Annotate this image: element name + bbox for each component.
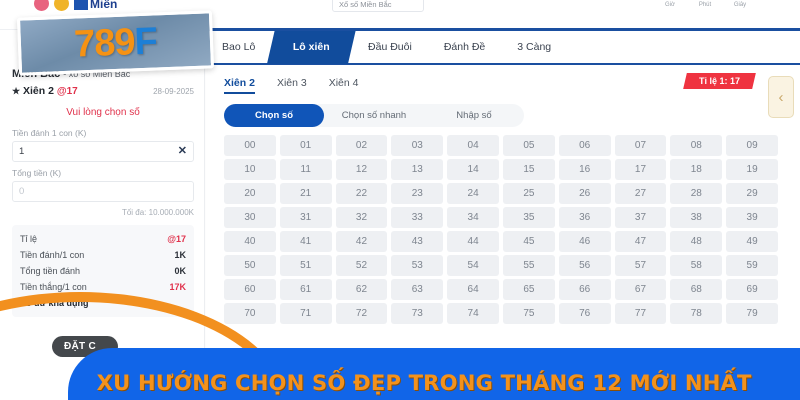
number-cell[interactable]: 06: [559, 135, 611, 156]
number-cell[interactable]: 40: [224, 231, 276, 252]
number-cell[interactable]: 74: [447, 303, 499, 324]
number-cell[interactable]: 00: [224, 135, 276, 156]
number-cell[interactable]: 25: [503, 183, 555, 204]
number-cell[interactable]: 24: [447, 183, 499, 204]
number-cell[interactable]: 26: [559, 183, 611, 204]
logo-dot-pink-icon: [34, 0, 49, 11]
number-cell[interactable]: 58: [670, 255, 722, 276]
number-cell[interactable]: 07: [615, 135, 667, 156]
number-cell[interactable]: 10: [224, 159, 276, 180]
number-cell[interactable]: 18: [670, 159, 722, 180]
number-cell[interactable]: 44: [447, 231, 499, 252]
select-number-hint: Vui lòng chọn số: [12, 107, 194, 118]
bet-per-number-value: 1: [19, 146, 178, 157]
ratio-badge-label: Tỉ lệ 1: 17: [699, 76, 740, 86]
number-cell[interactable]: 31: [280, 207, 332, 228]
summary-value: 1K: [174, 250, 186, 260]
number-cell[interactable]: 17: [615, 159, 667, 180]
panel-game-rate: @17: [57, 86, 78, 97]
number-cell[interactable]: 48: [670, 231, 722, 252]
number-grid: 0001020304050607080910111213141516171819…: [224, 135, 778, 324]
number-cell[interactable]: 34: [447, 207, 499, 228]
number-cell[interactable]: 43: [391, 231, 443, 252]
number-cell[interactable]: 35: [503, 207, 555, 228]
number-cell[interactable]: 30: [224, 207, 276, 228]
number-cell[interactable]: 72: [336, 303, 388, 324]
selection-mode-pills: Chọn số Chọn số nhanh Nhập số: [224, 104, 524, 127]
number-cell[interactable]: 68: [670, 279, 722, 300]
logo-dot-gold-icon: [54, 0, 69, 11]
bet-type-tabs: Bao Lô Lô xiên Đầu Đuôi Đánh Đề 3 Càng: [206, 30, 800, 65]
tabs-underline: [206, 28, 800, 31]
number-cell[interactable]: 65: [503, 279, 555, 300]
number-cell[interactable]: 62: [336, 279, 388, 300]
summary-row-total-bet: Tổng tiền đánh 0K: [20, 263, 186, 279]
tab-danh-de[interactable]: Đánh Đề: [428, 29, 501, 64]
number-cell[interactable]: 37: [615, 207, 667, 228]
summary-key: Tỉ lệ: [20, 234, 37, 244]
promo-banner-text: XU HƯỚNG CHỌN SỐ ĐẸP TRONG THÁNG 12 MỚI …: [97, 371, 752, 396]
number-cell[interactable]: 05: [503, 135, 555, 156]
number-cell[interactable]: 42: [336, 231, 388, 252]
chevron-left-icon: ‹: [779, 89, 784, 106]
panel-game-name: Xiên 2: [23, 85, 54, 97]
tab-dau-duoi[interactable]: Đầu Đuôi: [352, 29, 428, 64]
number-cell[interactable]: 46: [559, 231, 611, 252]
number-cell[interactable]: 77: [615, 303, 667, 324]
panel-game-row: ★ Xiên 2 @17 28-09-2025: [12, 85, 194, 97]
clear-icon[interactable]: ✕: [178, 146, 187, 157]
subtab-xien-3[interactable]: Xiên 3: [277, 77, 307, 94]
panel-draw-date: 28-09-2025: [153, 87, 194, 96]
brand-label: Miền: [90, 0, 117, 11]
summary-value: 0K: [174, 266, 186, 276]
number-cell[interactable]: 29: [726, 183, 778, 204]
summary-row-bet-per: Tiền đánh/1 con 1K: [20, 247, 186, 263]
number-cell[interactable]: 41: [280, 231, 332, 252]
ratio-badge: Tỉ lệ 1: 17: [683, 73, 756, 89]
screenshot-root: Miền Xổ số Miền Bắc 2 0 Giờ 2 0 Phút: [0, 0, 800, 400]
number-cell[interactable]: 19: [726, 159, 778, 180]
brand-mark: Miền: [74, 0, 117, 11]
number-cell[interactable]: 36: [559, 207, 611, 228]
number-cell[interactable]: 20: [224, 183, 276, 204]
watermark-789: 789: [73, 21, 135, 65]
max-amount-note: Tối đa: 10.000.000K: [12, 208, 194, 217]
countdown-unit-hours: 2 0 Giờ: [656, 0, 684, 8]
number-cell[interactable]: 60: [224, 279, 276, 300]
number-cell[interactable]: 75: [503, 303, 555, 324]
tab-label: Bao Lô: [222, 41, 255, 53]
watermark-text: 789F: [73, 20, 157, 66]
number-cell[interactable]: 03: [391, 135, 443, 156]
summary-key: Tiền thắng/1 con: [20, 282, 87, 292]
region-select-value: Xổ số Miền Bắc: [339, 0, 392, 9]
bet-per-number-label: Tiền đánh 1 con (K): [12, 128, 194, 138]
tab-label: Lô xiên: [293, 41, 330, 53]
total-amount-label: Tổng tiền (K): [12, 168, 194, 178]
number-cell[interactable]: 52: [336, 255, 388, 276]
number-cell[interactable]: 16: [559, 159, 611, 180]
number-cell[interactable]: 71: [280, 303, 332, 324]
star-icon: ★: [12, 86, 20, 96]
countdown-hours-label: Giờ: [656, 2, 684, 8]
tab-label: Đầu Đuôi: [368, 41, 412, 53]
number-cell[interactable]: 59: [726, 255, 778, 276]
main-content: Bao Lô Lô xiên Đầu Đuôi Đánh Đề 3 Càng X…: [206, 30, 800, 400]
brand-block-icon: [74, 0, 88, 10]
number-cell[interactable]: 39: [726, 207, 778, 228]
number-cell[interactable]: 67: [615, 279, 667, 300]
pill-chon-so[interactable]: Chọn số: [224, 104, 324, 127]
number-cell[interactable]: 51: [280, 255, 332, 276]
promo-banner: XU HƯỚNG CHỌN SỐ ĐẸP TRONG THÁNG 12 MỚI …: [68, 348, 800, 400]
number-cell[interactable]: 63: [391, 279, 443, 300]
number-cell[interactable]: 11: [280, 159, 332, 180]
panel-game-info: ★ Xiên 2 @17: [12, 85, 78, 97]
number-cell[interactable]: 28: [670, 183, 722, 204]
subtab-xien-4[interactable]: Xiên 4: [329, 77, 359, 94]
number-cell[interactable]: 69: [726, 279, 778, 300]
number-cell[interactable]: 32: [336, 207, 388, 228]
summary-value: 17K: [169, 282, 186, 292]
number-cell[interactable]: 55: [503, 255, 555, 276]
number-cell[interactable]: 27: [615, 183, 667, 204]
pill-chon-so-nhanh[interactable]: Chọn số nhanh: [324, 104, 424, 127]
pill-nhap-so[interactable]: Nhập số: [424, 104, 524, 127]
number-cell[interactable]: 47: [615, 231, 667, 252]
number-cell[interactable]: 01: [280, 135, 332, 156]
summary-value: @17: [167, 234, 186, 244]
number-cell[interactable]: 66: [559, 279, 611, 300]
number-cell[interactable]: 61: [280, 279, 332, 300]
number-cell[interactable]: 12: [336, 159, 388, 180]
countdown-unit-seconds: 0 4 Giây: [726, 0, 754, 8]
total-amount-value: 0: [19, 186, 187, 197]
number-cell[interactable]: 79: [726, 303, 778, 324]
number-cell[interactable]: 21: [280, 183, 332, 204]
watermark-logo: 789F: [17, 10, 214, 75]
number-cell[interactable]: 78: [670, 303, 722, 324]
countdown-seconds-label: Giây: [726, 2, 754, 8]
header-logo-group: Miền: [34, 0, 117, 11]
number-cell[interactable]: 09: [726, 135, 778, 156]
number-cell[interactable]: 04: [447, 135, 499, 156]
region-select[interactable]: Xổ số Miền Bắc: [332, 0, 424, 12]
number-cell[interactable]: 13: [391, 159, 443, 180]
subtab-xien-2[interactable]: Xiên 2: [224, 77, 255, 94]
tab-label: Đánh Đề: [444, 41, 485, 53]
number-cell[interactable]: 22: [336, 183, 388, 204]
number-cell[interactable]: 64: [447, 279, 499, 300]
watermark-f: F: [134, 20, 158, 63]
number-cell[interactable]: 02: [336, 135, 388, 156]
tab-label: 3 Càng: [517, 41, 551, 53]
number-cell[interactable]: 56: [559, 255, 611, 276]
number-cell[interactable]: 50: [224, 255, 276, 276]
tab-lo-xien[interactable]: Lô xiên: [267, 29, 356, 64]
tab-bao-lo[interactable]: Bao Lô: [206, 29, 271, 64]
number-cell[interactable]: 76: [559, 303, 611, 324]
total-amount-field[interactable]: 0: [12, 181, 194, 202]
tab-3-cang[interactable]: 3 Càng: [501, 29, 567, 64]
number-cell[interactable]: 38: [670, 207, 722, 228]
number-cell[interactable]: 54: [447, 255, 499, 276]
number-cell[interactable]: 45: [503, 231, 555, 252]
summary-key: Tiền đánh/1 con: [20, 250, 84, 260]
number-cell[interactable]: 33: [391, 207, 443, 228]
number-cell[interactable]: 73: [391, 303, 443, 324]
summary-key: Tổng tiền đánh: [20, 266, 80, 276]
countdown-minutes-label: Phút: [691, 2, 719, 8]
countdown-unit-minutes: 2 0 Phút: [691, 0, 719, 8]
number-cell[interactable]: 15: [503, 159, 555, 180]
number-cell[interactable]: 49: [726, 231, 778, 252]
number-cell[interactable]: 08: [670, 135, 722, 156]
number-cell[interactable]: 23: [391, 183, 443, 204]
number-cell[interactable]: 14: [447, 159, 499, 180]
collapse-panel-button[interactable]: ‹: [768, 76, 794, 118]
number-cell[interactable]: 53: [391, 255, 443, 276]
number-cell[interactable]: 57: [615, 255, 667, 276]
number-cell[interactable]: 70: [224, 303, 276, 324]
bet-per-number-field[interactable]: 1 ✕: [12, 141, 194, 162]
countdown-timer: 2 0 Giờ 2 0 Phút 0 4 Giây: [656, 0, 754, 8]
summary-row-ratio: Tỉ lệ @17: [20, 231, 186, 247]
